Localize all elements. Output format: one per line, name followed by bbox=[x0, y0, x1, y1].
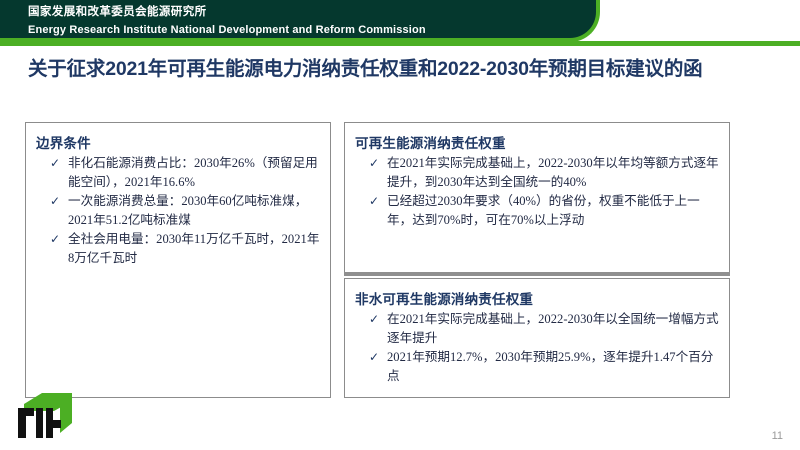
list-item: ✓ 在2021年实际完成基础上，2022-2030年以全国统一增幅方式逐年提升 bbox=[387, 310, 721, 347]
list-item: ✓ 非化石能源消费占比：2030年26%（预留足用能空间），2021年16.6% bbox=[68, 154, 322, 191]
organization-identity: 国家发展和改革委员会能源研究所 Energy Research Institut… bbox=[28, 4, 426, 38]
check-icon: ✓ bbox=[50, 154, 60, 173]
box-renewable-quota: 可再生能源消纳责任权重 ✓ 在2021年实际完成基础上，2022-2030年以年… bbox=[344, 122, 730, 274]
check-icon: ✓ bbox=[50, 192, 60, 211]
check-icon: ✓ bbox=[369, 348, 379, 367]
check-icon: ✓ bbox=[369, 192, 379, 211]
page-title: 关于征求2021年可再生能源电力消纳责任权重和2022-2030年预期目标建议的… bbox=[28, 56, 748, 82]
header-green-stripe bbox=[0, 41, 800, 46]
list-non-hydro-quota: ✓ 在2021年实际完成基础上，2022-2030年以全国统一增幅方式逐年提升 … bbox=[345, 310, 729, 385]
box-title-renewable-quota: 可再生能源消纳责任权重 bbox=[355, 132, 729, 152]
list-item-text: 全社会用电量：2030年11万亿千瓦时，2021年8万亿千瓦时 bbox=[68, 232, 319, 265]
box-title-non-hydro-quota: 非水可再生能源消纳责任权重 bbox=[355, 288, 729, 308]
slide: 国家发展和改革委员会能源研究所 Energy Research Institut… bbox=[0, 0, 800, 450]
right-boxes-divider bbox=[344, 272, 730, 276]
organization-name-en: Energy Research Institute National Devel… bbox=[28, 22, 426, 38]
list-item-text: 在2021年实际完成基础上，2022-2030年以全国统一增幅方式逐年提升 bbox=[387, 312, 719, 345]
box-boundary-conditions: 边界条件 ✓ 非化石能源消费占比：2030年26%（预留足用能空间），2021年… bbox=[25, 122, 331, 398]
box-title-boundary-conditions: 边界条件 bbox=[36, 132, 330, 152]
list-item: ✓ 2021年预期12.7%，2030年预期25.9%，逐年提升1.47个百分点 bbox=[387, 348, 721, 385]
organization-name-cn: 国家发展和改革委员会能源研究所 bbox=[28, 4, 426, 20]
box-non-hydro-quota: 非水可再生能源消纳责任权重 ✓ 在2021年实际完成基础上，2022-2030年… bbox=[344, 278, 730, 398]
list-item: ✓ 一次能源消费总量：2030年60亿吨标准煤，2021年51.2亿吨标准煤 bbox=[68, 192, 322, 229]
check-icon: ✓ bbox=[50, 230, 60, 249]
list-item-text: 非化石能源消费占比：2030年26%（预留足用能空间），2021年16.6% bbox=[68, 156, 318, 189]
list-item: ✓ 全社会用电量：2030年11万亿千瓦时，2021年8万亿千瓦时 bbox=[68, 230, 322, 267]
list-item-text: 在2021年实际完成基础上，2022-2030年以年均等额方式逐年提升，到203… bbox=[387, 156, 719, 189]
list-item: ✓ 已经超过2030年要求（40%）的省份，权重不能低于上一年，达到70%时，可… bbox=[387, 192, 721, 229]
eri-logo-icon bbox=[16, 390, 78, 442]
list-item-text: 一次能源消费总量：2030年60亿吨标准煤，2021年51.2亿吨标准煤 bbox=[68, 194, 307, 227]
list-item-text: 已经超过2030年要求（40%）的省份，权重不能低于上一年，达到70%时，可在7… bbox=[387, 194, 700, 227]
list-item-text: 2021年预期12.7%，2030年预期25.9%，逐年提升1.47个百分点 bbox=[387, 350, 713, 383]
list-boundary-conditions: ✓ 非化石能源消费占比：2030年26%（预留足用能空间），2021年16.6%… bbox=[26, 154, 330, 267]
check-icon: ✓ bbox=[369, 154, 379, 173]
check-icon: ✓ bbox=[369, 310, 379, 329]
page-number: 11 bbox=[772, 430, 783, 442]
list-renewable-quota: ✓ 在2021年实际完成基础上，2022-2030年以年均等额方式逐年提升，到2… bbox=[345, 154, 729, 229]
list-item: ✓ 在2021年实际完成基础上，2022-2030年以年均等额方式逐年提升，到2… bbox=[387, 154, 721, 191]
